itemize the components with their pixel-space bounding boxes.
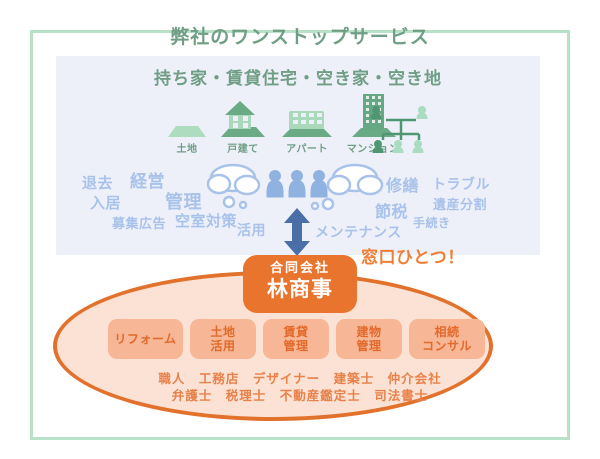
pill-line-1: 建物 — [356, 325, 381, 339]
service-pill-row: リフォーム 土地 活用 賃貸 管理 建物 管理 相続 コンサル — [108, 319, 498, 363]
company-badge: 合同会社 林商事 — [243, 255, 357, 313]
service-pill-rental-management[interactable]: 賃貸 管理 — [263, 319, 329, 359]
thought-cloud-icon — [208, 165, 259, 208]
property-icon-apartment: アパート — [280, 100, 334, 155]
callout-text: 窓口ひとつ！ — [361, 243, 465, 268]
keyword-boshu-kokoku: 募集広告 — [112, 213, 166, 232]
diagram-canvas: 弊社のワンストップサービス 持ち家・賃貸住宅・空き家・空き地 土地 戸建て — [0, 0, 600, 459]
keyword-taikyo: 退去 — [82, 172, 113, 193]
keyword-kushitsu-taisaku: 空室対策 — [175, 210, 237, 231]
partner-row-2: 弁護士 税理士 不動産鑑定士 司法書士 — [56, 387, 544, 404]
company-name: 林商事 — [243, 276, 357, 302]
pill-line-1: 賃貸 — [283, 325, 308, 339]
keyword-isan-bunkatsu: 遺産分割 — [433, 194, 487, 213]
family-tree-icon — [366, 104, 438, 156]
partner-list: 職人 工務店 デザイナー 建築士 仲介会社 弁護士 税理士 不動産鑑定士 司法書… — [56, 370, 544, 404]
partner-row-1: 職人 工務店 デザイナー 建築士 仲介会社 — [56, 370, 544, 387]
service-pill-land-use[interactable]: 土地 活用 — [190, 319, 256, 359]
keyword-katsuyo: 活用 — [237, 220, 266, 240]
apartment-icon — [280, 100, 334, 140]
service-pill-inheritance-consulting[interactable]: 相続 コンサル — [409, 319, 485, 359]
keyword-trouble: トラブル — [432, 174, 490, 194]
double-arrow-up-down-icon — [280, 208, 314, 256]
keyword-setsuzei: 節税 — [375, 198, 408, 222]
keyword-shuzen: 修繕 — [386, 172, 419, 196]
page-title: 弊社のワンストップサービス — [0, 22, 600, 49]
pill-line-2: 活用 — [210, 339, 235, 353]
company-kind: 合同会社 — [243, 261, 357, 276]
property-icon-label: アパート — [280, 140, 334, 155]
panel-heading: 持ち家・賃貸住宅・空き家・空き地 — [56, 64, 540, 89]
pill-line-2: 管理 — [283, 339, 308, 353]
property-icon-land: 土地 — [160, 100, 214, 155]
property-icon-label: 土地 — [160, 140, 214, 155]
service-pill-building-management[interactable]: 建物 管理 — [336, 319, 402, 359]
keyword-maintenance: メンテナンス — [315, 222, 402, 242]
property-icon-label: 戸建て — [216, 140, 270, 155]
pill-line-2: コンサル — [422, 339, 472, 353]
pill-line-1: 土地 — [210, 325, 235, 339]
service-pill-reform[interactable]: リフォーム — [108, 319, 183, 359]
property-icon-detached-house: 戸建て — [216, 100, 270, 155]
pill-line-1: リフォーム — [114, 332, 176, 346]
pill-line-2: 管理 — [356, 339, 381, 353]
keyword-tetsuzuki: 手続き — [413, 214, 451, 231]
land-icon — [160, 100, 214, 140]
pill-line-1: 相続 — [434, 325, 459, 339]
keyword-keiei: 経営 — [130, 167, 165, 192]
detached-house-icon — [216, 100, 270, 140]
three-people-icon — [267, 170, 328, 198]
keyword-nyukyo: 入居 — [90, 192, 121, 213]
